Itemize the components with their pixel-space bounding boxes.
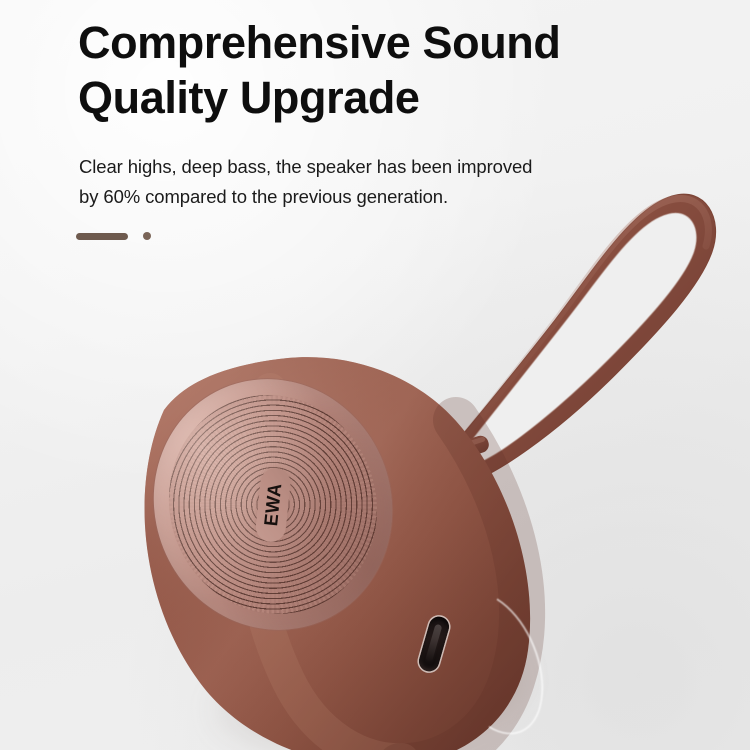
product-banner: Comprehensive Sound Quality Upgrade Clea… [0, 0, 750, 750]
pagination-dot[interactable] [143, 232, 151, 240]
pagination-indicator[interactable] [76, 232, 151, 240]
pagination-active-bar[interactable] [76, 233, 128, 240]
page-title: Comprehensive Sound Quality Upgrade [78, 16, 688, 126]
brand-logo-text: EWA [261, 482, 284, 527]
